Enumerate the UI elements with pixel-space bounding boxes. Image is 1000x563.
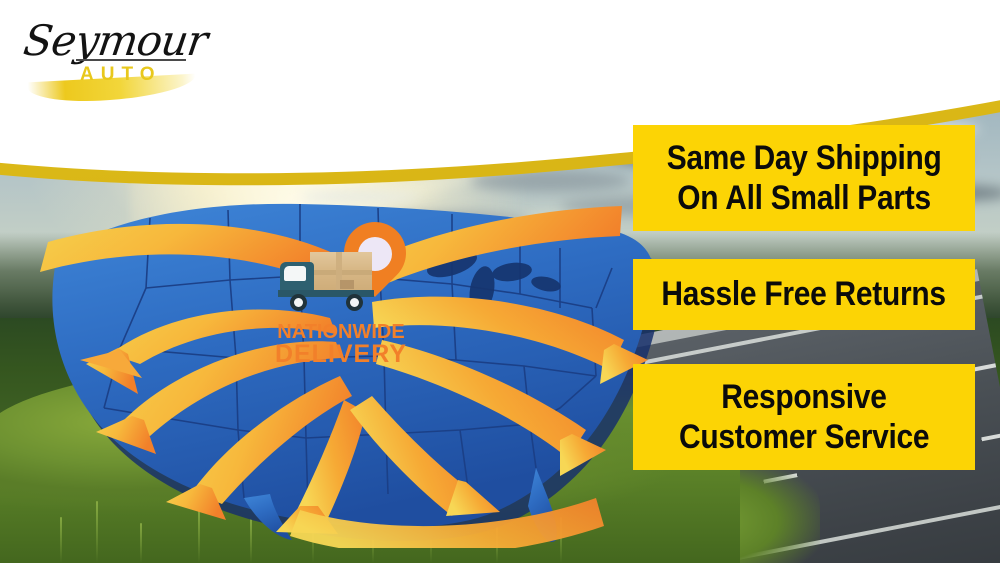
truck-wheel (346, 294, 363, 311)
promotional-banner: Seymour AUTO (0, 0, 1000, 563)
truck-box-label (340, 280, 354, 289)
feature-line: Hassle Free Returns (662, 274, 946, 314)
delivery-truck-icon (278, 248, 382, 314)
logo-underline (76, 59, 186, 61)
feature-box-same-day-shipping[interactable]: Same Day Shipping On All Small Parts (633, 125, 975, 231)
truck-window (284, 266, 306, 281)
feature-line: Responsive (721, 377, 886, 417)
truck-wheel (290, 294, 307, 311)
caption-line-2: DELIVERY (266, 342, 416, 368)
feature-box-hassle-free-returns[interactable]: Hassle Free Returns (633, 259, 975, 330)
caption-line-1: NATIONWIDE (266, 322, 416, 342)
feature-line: On All Small Parts (677, 178, 931, 218)
logo-brand-script: Seymour (21, 16, 210, 65)
seymour-auto-logo[interactable]: Seymour AUTO (18, 12, 198, 98)
feature-line: Same Day Shipping (667, 138, 942, 178)
feature-line: Customer Service (679, 417, 929, 457)
nationwide-delivery-caption: NATIONWIDE DELIVERY (266, 322, 416, 368)
feature-box-responsive-customer-service[interactable]: Responsive Customer Service (633, 364, 975, 470)
logo-brand-sub: AUTO (80, 64, 161, 86)
